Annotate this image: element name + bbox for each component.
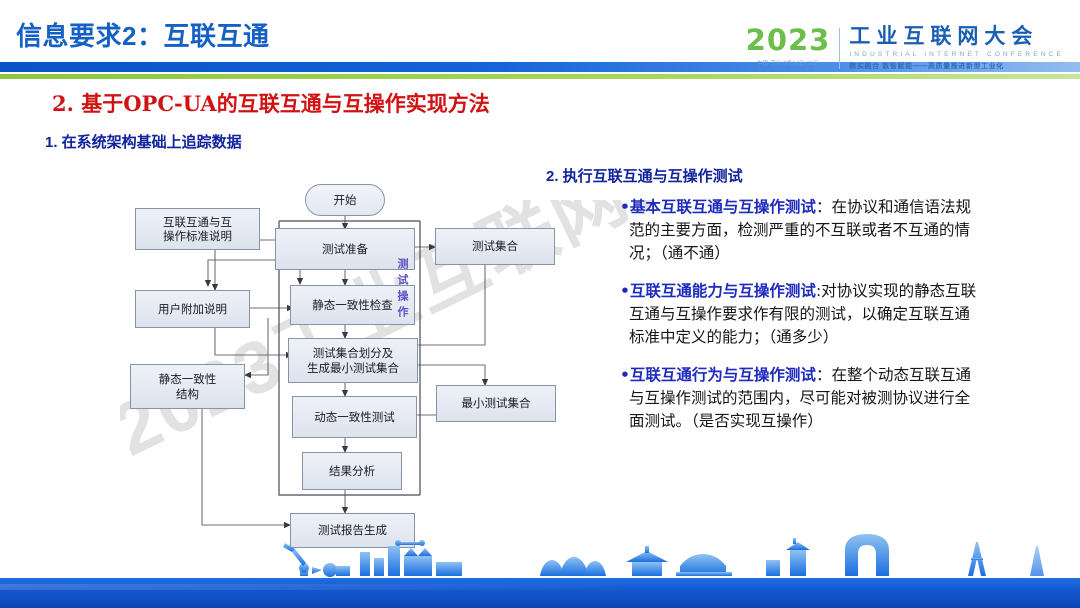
flow-node-dynamic-test[interactable]: 动态一致性测试 [292,396,417,438]
section-heading-right: 2. 执行互联互通与互操作测试 [546,165,743,186]
logo-name-cn: 工业互联网大会 [849,26,1064,48]
flow-node-testset[interactable]: 测试集合 [435,228,555,265]
skyline-shapes [283,534,1080,577]
page-title: 信息要求2：互联互通 [16,16,269,53]
bullet-dot-icon: • [620,282,630,300]
bullet-list: •基本互联互通与互操作测试：在协议和通信语法规范的主要方面，检测严重的不互联或者… [620,196,980,447]
bullet-separator: ： [816,198,832,216]
section-heading-left: 1. 在系统架构基础上追踪数据 [45,131,242,152]
logo-divider [839,28,840,69]
list-item: •互联互通能力与互操作测试:对协议实现的静态互联互通与互操作要求作有限的测试，以… [620,280,980,349]
flow-node-userdesc[interactable]: 用户附加说明 [135,290,250,328]
flow-vertical-label: 测试操作 [394,258,410,322]
bullet-title: 互联互通能力与互操作测试 [630,282,816,300]
flow-node-analysis[interactable]: 结果分析 [302,452,402,490]
list-item: •基本互联互通与互操作测试：在协议和通信语法规范的主要方面，检测严重的不互联或者… [620,196,980,265]
flow-node-spec[interactable]: 互联互通与互 操作标准说明 [135,208,260,250]
section-heading-main: 2. 基于OPC-UA的互联互通与互操作实现方法 [52,88,490,118]
footer-band [0,578,1080,608]
logo-year-block: 2023 中国·苏州 8月14日-16日 [746,26,840,67]
logo-year: 2023 [746,26,831,55]
logo-tagline: 数实融合 数智赋能——高质量推进新型工业化 [849,61,1064,71]
bullet-title: 基本互联互通与互操作测试 [630,198,816,216]
skyline-illustration [0,532,1080,580]
logo-name-block: 工业互联网大会 INDUSTRIAL INTERNET CONFERENCE 数… [849,26,1064,71]
header-accent-bar-green [0,74,1080,79]
bullet-dot-icon: • [620,366,630,384]
bullet-separator: ： [816,366,832,384]
bullet-dot-icon: • [620,198,630,216]
bullet-title: 互联互通行为与互操作测试 [630,366,816,384]
flow-node-split[interactable]: 测试集合划分及 生成最小测试集合 [288,338,418,383]
slide-root: 信息要求2：互联互通 2023 中国·苏州 8月14日-16日 工业互联网大会 … [0,0,1080,608]
flow-node-static-structure[interactable]: 静态一致性 结构 [130,364,245,409]
flowchart: 开始 互联互通与互 操作标准说明 测试准备 测试集合 用户附加说明 静态一致性检… [140,170,560,555]
logo-name-en: INDUSTRIAL INTERNET CONFERENCE [849,51,1064,58]
logo-date: 中国·苏州 8月14日-16日 [757,60,819,67]
flow-node-start[interactable]: 开始 [305,184,385,216]
conference-logo: 2023 中国·苏州 8月14日-16日 工业互联网大会 INDUSTRIAL … [746,26,1064,71]
flow-node-minset[interactable]: 最小测试集合 [436,385,556,422]
list-item: •互联互通行为与互操作测试：在整个动态互联互通与互操作测试的范围内，尽可能对被测… [620,364,980,433]
